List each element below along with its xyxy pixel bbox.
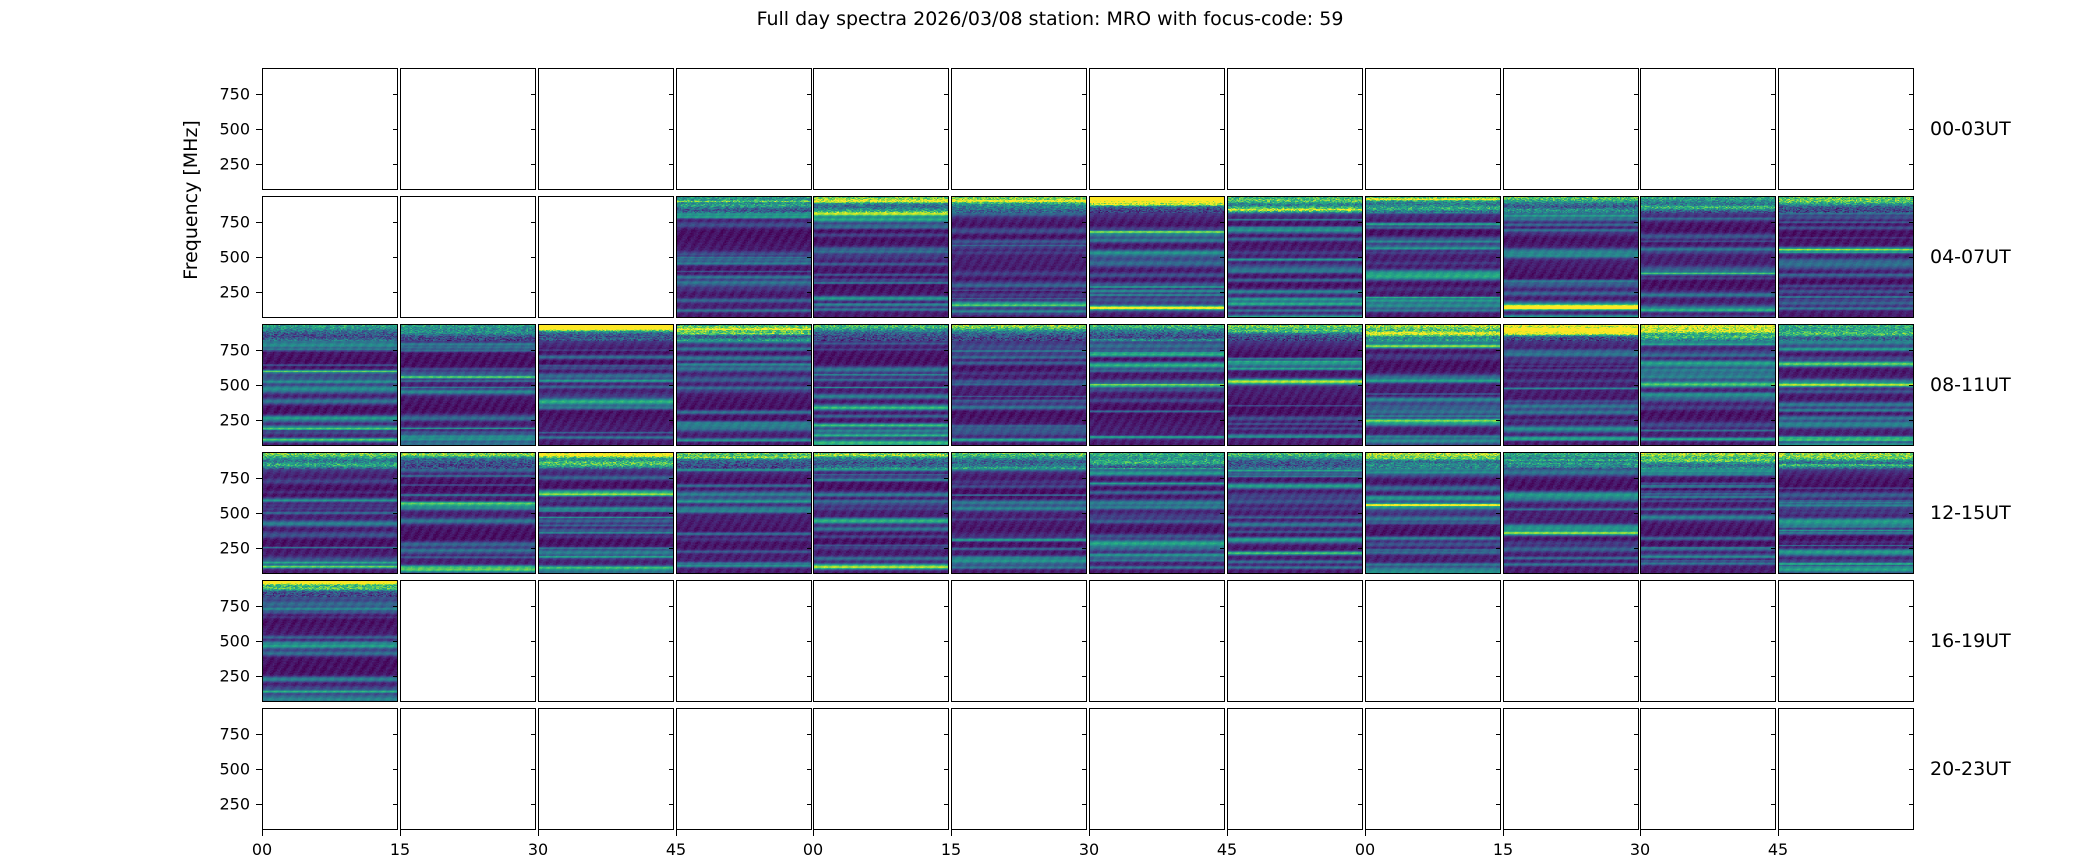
y-tick-mark: [1909, 513, 1914, 514]
y-tick-mark: [393, 222, 398, 223]
y-tick-mark: [256, 478, 262, 479]
y-tick-mark: [1358, 606, 1363, 607]
y-tick-mark: [1496, 292, 1501, 293]
spectrogram-panel: [1640, 580, 1776, 702]
spectrogram-panel: [262, 68, 398, 190]
y-tick-mark: [1909, 129, 1914, 130]
y-tick-mark: [256, 94, 262, 95]
y-tick-mark: [807, 257, 812, 258]
y-tick-mark: [1358, 350, 1363, 351]
y-tick-mark: [1771, 804, 1776, 805]
y-tick-mark: [1909, 292, 1914, 293]
y-tick-mark: [1082, 257, 1087, 258]
y-tick-mark: [393, 478, 398, 479]
y-tick-mark: [1358, 804, 1363, 805]
y-tick-mark: [1496, 548, 1501, 549]
y-tick-mark: [393, 292, 398, 293]
y-tick-mark: [669, 478, 674, 479]
y-tick-mark: [1220, 292, 1225, 293]
y-tick-mark: [531, 734, 536, 735]
y-tick-mark: [1909, 164, 1914, 165]
y-tick-mark: [669, 734, 674, 735]
spectrogram-panel: [1227, 580, 1363, 702]
y-tick-mark: [1496, 676, 1501, 677]
spectrogram-panel: [951, 580, 1087, 702]
y-tick-mark: [944, 548, 949, 549]
y-tick-mark: [1634, 94, 1639, 95]
row-label-04-07ut: 04-07UT: [1930, 246, 2011, 268]
y-tick-mark: [531, 350, 536, 351]
y-tick-mark: [1220, 222, 1225, 223]
y-tick-mark: [1082, 164, 1087, 165]
y-tick-label: 750: [219, 597, 250, 616]
y-tick-mark: [1909, 641, 1914, 642]
x-tick-label: 45: [666, 840, 686, 859]
y-tick-mark: [1220, 350, 1225, 351]
y-tick-mark: [1220, 641, 1225, 642]
y-tick-mark: [944, 478, 949, 479]
y-tick-mark: [1771, 769, 1776, 770]
y-tick-mark: [256, 257, 262, 258]
x-tick-mark: [1503, 830, 1504, 836]
y-tick-mark: [807, 641, 812, 642]
spectrogram-canvas: [1366, 325, 1500, 445]
y-tick-mark: [1909, 350, 1914, 351]
spectrogram-panel: [1503, 452, 1639, 574]
spectrogram-canvas: [539, 453, 673, 573]
spectrogram-panel: [400, 196, 536, 318]
y-tick-mark: [1771, 164, 1776, 165]
y-tick-label: 500: [219, 120, 250, 139]
y-tick-mark: [1358, 420, 1363, 421]
spectrogram-canvas: [1641, 197, 1775, 317]
y-tick-mark: [1220, 129, 1225, 130]
y-tick-mark: [531, 804, 536, 805]
spectrogram-panel: [538, 708, 674, 830]
y-tick-mark: [1771, 478, 1776, 479]
spectrogram-panel: [1640, 68, 1776, 190]
y-tick-mark: [669, 164, 674, 165]
spectrogram-panel: [1503, 324, 1639, 446]
spectrogram-panel: [538, 452, 674, 574]
y-tick-mark: [1082, 676, 1087, 677]
row-label-16-19ut: 16-19UT: [1930, 630, 2011, 652]
y-tick-mark: [944, 292, 949, 293]
spectrogram-panel: [813, 580, 949, 702]
y-tick-mark: [1771, 257, 1776, 258]
spectrogram-panel: [262, 196, 398, 318]
y-tick-mark: [944, 164, 949, 165]
y-tick-mark: [1771, 548, 1776, 549]
x-tick-label: 15: [1493, 840, 1513, 859]
y-tick-mark: [669, 641, 674, 642]
y-tick-mark: [1358, 129, 1363, 130]
spectrogram-panel: [1089, 452, 1225, 574]
y-tick-mark: [393, 257, 398, 258]
x-tick-label: 45: [1768, 840, 1788, 859]
y-tick-mark: [1220, 420, 1225, 421]
y-tick-mark: [393, 734, 398, 735]
y-tick-mark: [256, 769, 262, 770]
x-tick-label: 15: [941, 840, 961, 859]
spectrogram-panel: [813, 68, 949, 190]
spectrogram-panel: [400, 708, 536, 830]
spectrogram-panel: [1089, 324, 1225, 446]
spectrogram-canvas: [677, 325, 811, 445]
spectrogram-panel: [400, 68, 536, 190]
y-tick-mark: [256, 676, 262, 677]
x-tick-mark: [813, 830, 814, 836]
y-tick-mark: [1082, 804, 1087, 805]
y-tick-mark: [807, 513, 812, 514]
spectrogram-canvas: [952, 325, 1086, 445]
y-tick-label: 250: [219, 667, 250, 686]
y-tick-mark: [256, 641, 262, 642]
spectrogram-canvas: [1504, 325, 1638, 445]
y-tick-label: 250: [219, 539, 250, 558]
spectrogram-panel: [1778, 324, 1914, 446]
y-tick-mark: [1634, 222, 1639, 223]
y-tick-mark: [1220, 734, 1225, 735]
y-tick-mark: [669, 129, 674, 130]
x-tick-label: 30: [1079, 840, 1099, 859]
spectrogram-canvas: [677, 453, 811, 573]
y-tick-mark: [1909, 734, 1914, 735]
y-tick-mark: [1358, 222, 1363, 223]
x-tick-mark: [951, 830, 952, 836]
y-tick-mark: [1634, 129, 1639, 130]
y-tick-mark: [1358, 513, 1363, 514]
y-tick-mark: [1220, 513, 1225, 514]
y-tick-mark: [807, 420, 812, 421]
y-tick-mark: [1358, 734, 1363, 735]
y-tick-mark: [1082, 734, 1087, 735]
y-tick-mark: [807, 804, 812, 805]
spectrogram-panel: [1640, 196, 1776, 318]
y-tick-mark: [1358, 164, 1363, 165]
spectrogram-panel: [1365, 452, 1501, 574]
y-tick-label: 750: [219, 85, 250, 104]
y-tick-mark: [807, 164, 812, 165]
y-tick-mark: [1634, 478, 1639, 479]
y-tick-mark: [1082, 420, 1087, 421]
y-tick-mark: [1220, 164, 1225, 165]
spectrogram-panel: [1365, 708, 1501, 830]
y-tick-mark: [1634, 676, 1639, 677]
x-tick-mark: [1365, 830, 1366, 836]
y-tick-mark: [1634, 385, 1639, 386]
spectrogram-panel: [1640, 324, 1776, 446]
y-tick-mark: [1358, 385, 1363, 386]
y-tick-mark: [393, 350, 398, 351]
spectrogram-canvas: [1228, 197, 1362, 317]
spectrogram-panel: [813, 452, 949, 574]
y-tick-label: 250: [219, 155, 250, 174]
x-tick-mark: [676, 830, 677, 836]
spectrogram-panel: [951, 708, 1087, 830]
spectrogram-panel: [813, 708, 949, 830]
y-tick-mark: [1634, 420, 1639, 421]
y-tick-mark: [944, 385, 949, 386]
spectrogram-canvas: [1504, 453, 1638, 573]
y-tick-mark: [1909, 478, 1914, 479]
y-tick-mark: [256, 385, 262, 386]
y-tick-mark: [393, 804, 398, 805]
y-tick-mark: [944, 641, 949, 642]
y-tick-mark: [1220, 769, 1225, 770]
y-tick-label: 500: [219, 504, 250, 523]
spectrogram-canvas: [1641, 453, 1775, 573]
y-tick-mark: [531, 164, 536, 165]
y-tick-mark: [531, 641, 536, 642]
y-tick-mark: [1082, 606, 1087, 607]
y-tick-mark: [256, 513, 262, 514]
x-tick-mark: [1778, 830, 1779, 836]
y-tick-mark: [1220, 257, 1225, 258]
spectrogram-panel: [400, 324, 536, 446]
y-tick-label: 500: [219, 632, 250, 651]
x-tick-label: 00: [252, 840, 272, 859]
row-label-00-03ut: 00-03UT: [1930, 118, 2011, 140]
spectrogram-panel: [262, 452, 398, 574]
y-tick-mark: [1634, 734, 1639, 735]
y-tick-mark: [1496, 257, 1501, 258]
y-tick-mark: [256, 350, 262, 351]
x-tick-label: 30: [1630, 840, 1650, 859]
spectrogram-panel: [676, 324, 812, 446]
y-tick-mark: [1220, 804, 1225, 805]
y-tick-mark: [531, 420, 536, 421]
y-tick-mark: [1909, 804, 1914, 805]
y-tick-mark: [669, 385, 674, 386]
spectrogram-panel: [538, 196, 674, 318]
y-tick-mark: [393, 94, 398, 95]
y-tick-mark: [807, 676, 812, 677]
y-tick-mark: [393, 676, 398, 677]
x-tick-mark: [538, 830, 539, 836]
y-tick-mark: [1771, 420, 1776, 421]
y-tick-mark: [1634, 548, 1639, 549]
y-tick-mark: [1496, 385, 1501, 386]
x-tick-mark: [1640, 830, 1641, 836]
y-tick-mark: [944, 513, 949, 514]
spectrogram-canvas: [1779, 453, 1913, 573]
y-tick-mark: [1496, 94, 1501, 95]
spectrogram-panel: [1089, 580, 1225, 702]
y-tick-mark: [1496, 769, 1501, 770]
spectrogram-panel: [400, 580, 536, 702]
spectrogram-panel: [676, 452, 812, 574]
spectrogram-canvas: [401, 325, 535, 445]
y-tick-mark: [944, 420, 949, 421]
spectrogram-panel: [538, 68, 674, 190]
spectrogram-panel: [1227, 708, 1363, 830]
y-tick-mark: [1909, 676, 1914, 677]
y-tick-mark: [1909, 548, 1914, 549]
y-tick-mark: [807, 734, 812, 735]
spectrogram-panel: [676, 68, 812, 190]
spectrogram-panel: [1365, 580, 1501, 702]
y-tick-mark: [669, 513, 674, 514]
spectrogram-panel: [813, 324, 949, 446]
y-tick-mark: [669, 257, 674, 258]
y-tick-label: 750: [219, 469, 250, 488]
y-tick-mark: [1496, 420, 1501, 421]
y-tick-mark: [1358, 548, 1363, 549]
y-tick-mark: [1358, 292, 1363, 293]
spectrogram-panel: [1778, 68, 1914, 190]
spectrogram-canvas: [1504, 197, 1638, 317]
y-tick-mark: [1496, 804, 1501, 805]
y-tick-mark: [1771, 292, 1776, 293]
y-tick-mark: [1358, 641, 1363, 642]
y-tick-mark: [944, 94, 949, 95]
spectrogram-row: [262, 324, 1916, 446]
y-tick-mark: [1496, 734, 1501, 735]
y-tick-mark: [944, 606, 949, 607]
y-tick-label: 250: [219, 411, 250, 430]
y-tick-label: 750: [219, 213, 250, 232]
y-tick-mark: [1496, 606, 1501, 607]
y-tick-mark: [1634, 641, 1639, 642]
y-tick-mark: [393, 641, 398, 642]
y-tick-mark: [1082, 385, 1087, 386]
spectrogram-row: [262, 580, 1916, 702]
y-tick-label: 250: [219, 283, 250, 302]
y-tick-mark: [1496, 513, 1501, 514]
spectrogram-canvas: [677, 197, 811, 317]
spectrogram-panel: [1365, 68, 1501, 190]
spectrogram-panel: [262, 708, 398, 830]
y-tick-mark: [1634, 292, 1639, 293]
spectrogram-panel: [400, 452, 536, 574]
spectrogram-canvas: [1090, 197, 1224, 317]
y-tick-mark: [1634, 164, 1639, 165]
y-tick-mark: [1909, 257, 1914, 258]
spectrogram-panel: [813, 196, 949, 318]
spectrogram-canvas: [814, 453, 948, 573]
spectrogram-panel: [951, 324, 1087, 446]
y-tick-mark: [1220, 606, 1225, 607]
spectrogram-panel: [262, 580, 398, 702]
spectrogram-canvas: [1090, 453, 1224, 573]
x-tick-label: 45: [1217, 840, 1237, 859]
spectrogram-panel: [538, 580, 674, 702]
y-tick-label: 500: [219, 760, 250, 779]
y-tick-mark: [1771, 641, 1776, 642]
row-label-20-23ut: 20-23UT: [1930, 758, 2011, 780]
spectrogram-canvas: [1228, 325, 1362, 445]
y-axis-label: Frequency [MHz]: [180, 70, 202, 330]
y-tick-mark: [1909, 420, 1914, 421]
spectrogram-canvas: [263, 581, 397, 701]
y-tick-mark: [1358, 94, 1363, 95]
y-tick-mark: [1358, 676, 1363, 677]
spectrogram-panel: [1089, 708, 1225, 830]
y-tick-mark: [531, 513, 536, 514]
spectrogram-canvas: [1641, 325, 1775, 445]
spectrogram-panel: [1640, 452, 1776, 574]
spectrogram-canvas: [814, 197, 948, 317]
spectrogram-canvas: [1779, 197, 1913, 317]
y-tick-mark: [1082, 222, 1087, 223]
y-tick-mark: [531, 676, 536, 677]
x-tick-mark: [1089, 830, 1090, 836]
y-tick-mark: [1082, 641, 1087, 642]
y-tick-mark: [531, 94, 536, 95]
spectrogram-figure: Full day spectra 2026/03/08 station: MRO…: [0, 0, 2100, 800]
y-tick-mark: [1358, 478, 1363, 479]
spectrogram-canvas: [952, 453, 1086, 573]
spectrogram-panel: [676, 196, 812, 318]
y-tick-mark: [944, 676, 949, 677]
y-tick-mark: [1496, 478, 1501, 479]
page-title: Full day spectra 2026/03/08 station: MRO…: [0, 8, 2100, 30]
spectrogram-panel: [1365, 324, 1501, 446]
y-tick-mark: [944, 222, 949, 223]
spectrogram-canvas: [1366, 453, 1500, 573]
y-tick-mark: [807, 548, 812, 549]
y-tick-mark: [1909, 385, 1914, 386]
y-tick-mark: [669, 94, 674, 95]
y-tick-mark: [1634, 804, 1639, 805]
y-tick-mark: [1634, 769, 1639, 770]
spectrogram-canvas: [1090, 325, 1224, 445]
y-tick-mark: [1771, 222, 1776, 223]
y-tick-mark: [256, 129, 262, 130]
x-tick-mark: [262, 830, 263, 836]
y-tick-mark: [1909, 94, 1914, 95]
y-tick-mark: [944, 129, 949, 130]
y-tick-mark: [1220, 478, 1225, 479]
y-tick-mark: [531, 257, 536, 258]
y-tick-mark: [1496, 641, 1501, 642]
spectrogram-panel: [676, 708, 812, 830]
x-tick-label: 15: [390, 840, 410, 859]
y-tick-mark: [393, 548, 398, 549]
spectrogram-panel: [951, 452, 1087, 574]
spectrogram-canvas: [263, 325, 397, 445]
y-tick-mark: [1909, 606, 1914, 607]
row-label-08-11ut: 08-11UT: [1930, 374, 2011, 396]
y-tick-mark: [1634, 257, 1639, 258]
spectrogram-canvas: [539, 325, 673, 445]
y-tick-mark: [256, 292, 262, 293]
y-tick-mark: [944, 769, 949, 770]
y-tick-mark: [531, 385, 536, 386]
y-tick-label: 750: [219, 725, 250, 744]
y-tick-mark: [256, 222, 262, 223]
y-tick-mark: [531, 769, 536, 770]
spectrogram-panel: [1227, 68, 1363, 190]
y-tick-mark: [393, 164, 398, 165]
y-tick-mark: [531, 129, 536, 130]
y-tick-mark: [669, 804, 674, 805]
y-tick-mark: [256, 804, 262, 805]
y-tick-label: 500: [219, 248, 250, 267]
y-tick-mark: [1082, 292, 1087, 293]
y-tick-mark: [1771, 513, 1776, 514]
x-tick-label: 00: [1355, 840, 1375, 859]
spectrogram-panel: [1778, 452, 1914, 574]
y-tick-mark: [1082, 769, 1087, 770]
spectrogram-row: [262, 708, 1916, 830]
y-tick-mark: [393, 513, 398, 514]
x-tick-label: 30: [528, 840, 548, 859]
spectrogram-panel: [1778, 708, 1914, 830]
spectrogram-canvas: [1779, 325, 1913, 445]
y-tick-mark: [669, 676, 674, 677]
